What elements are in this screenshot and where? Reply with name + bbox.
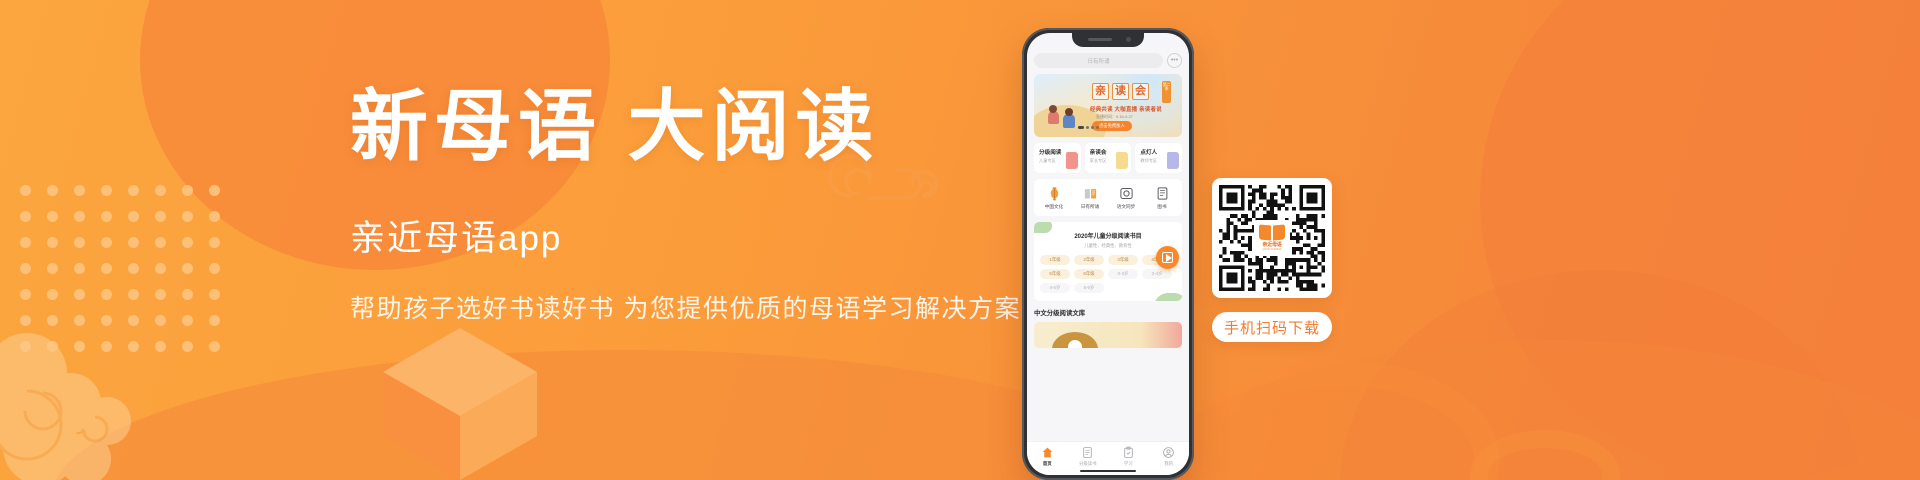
decor-dot <box>128 289 139 300</box>
app-content: 日有所诵 ••• 亲 读 会 第二季 经典共读 大咖直播 亲读者说 <box>1027 33 1189 348</box>
phone-mockup: 日有所诵 ••• 亲 读 会 第二季 经典共读 大咖直播 亲读者说 <box>1022 28 1194 480</box>
decor-dot <box>74 341 85 352</box>
decor-dot <box>47 341 58 352</box>
decor-dot <box>20 237 31 248</box>
grade-tag[interactable]: 3年级 <box>1108 255 1138 265</box>
entry-card-art-icon <box>1066 152 1078 169</box>
promo-banner: 新母语 大阅读 亲近母语app 帮助孩子选好书读好书 为您提供优质的母语学习解决… <box>0 0 1920 480</box>
decor-dot <box>128 211 139 222</box>
decor-dot <box>128 263 139 274</box>
app-search-input[interactable]: 日有所诵 <box>1034 53 1163 68</box>
book-module-title: 2020年儿童分级阅读书目 <box>1040 231 1176 240</box>
play-frame <box>1162 252 1173 263</box>
decor-circle-right <box>1480 0 1920 480</box>
decor-dot <box>74 211 85 222</box>
tab-list[interactable]: 分级读书 <box>1068 446 1109 467</box>
decor-dot <box>47 211 58 222</box>
decor-dot <box>101 185 112 196</box>
decor-dot <box>101 315 112 326</box>
decor-dot <box>209 341 220 352</box>
pager-dot <box>1078 126 1084 129</box>
decor-dot <box>155 211 166 222</box>
decor-dot <box>101 263 112 274</box>
decor-dot <box>74 237 85 248</box>
banner-copy: 新母语 大阅读 亲近母语app 帮助孩子选好书读好书 为您提供优质的母语学习解决… <box>350 88 1050 325</box>
decor-dot <box>101 237 112 248</box>
app-search-row: 日有所诵 ••• <box>1034 53 1182 68</box>
decor-dot <box>128 341 139 352</box>
brand-logo-en: QINJIN CHINESE <box>1262 248 1281 251</box>
quick-icon-label: 中国文化 <box>1041 204 1067 210</box>
entry-card[interactable]: 点灯人教师专区 <box>1135 143 1182 173</box>
tab-label: 我的 <box>1149 461 1190 467</box>
grade-tag[interactable]: 5年级 <box>1040 269 1070 279</box>
quick-icon-label: 日有所诵 <box>1077 204 1103 210</box>
age-tag[interactable]: 0-3岁 <box>1108 269 1138 279</box>
decor-dot <box>74 315 85 326</box>
leaf-decor-icon <box>1154 293 1182 301</box>
pager-dot <box>1096 126 1099 129</box>
book-open-icon <box>1083 186 1098 201</box>
decor-dot <box>101 341 112 352</box>
play-video-icon[interactable] <box>1156 246 1179 269</box>
tab-label: 首页 <box>1027 461 1068 467</box>
quick-icon-item[interactable]: 语文同步 <box>1113 186 1139 210</box>
tab-person[interactable]: 我的 <box>1149 446 1190 467</box>
speaker-icon <box>1088 38 1112 41</box>
list-icon <box>1081 446 1094 459</box>
grade-tag[interactable]: 1年级 <box>1040 255 1070 265</box>
brand-logo-name: 亲近母语 <box>1262 241 1281 248</box>
decor-dot <box>209 289 220 300</box>
app-library-strip[interactable] <box>1034 322 1182 348</box>
decor-ring-right-small <box>1470 430 1620 480</box>
tab-label: 分级读书 <box>1068 461 1109 467</box>
book-page-right <box>1273 224 1285 240</box>
age-tag[interactable]: 4-5岁 <box>1040 283 1070 293</box>
decor-dot <box>209 315 220 326</box>
decor-dot <box>209 237 220 248</box>
hero-season-tag: 第二季 <box>1162 81 1171 103</box>
decor-dot <box>74 263 85 274</box>
decor-dot <box>128 237 139 248</box>
decor-dot <box>209 185 220 196</box>
more-dots-icon[interactable]: ••• <box>1167 53 1182 68</box>
entry-card-art-icon <box>1116 152 1128 169</box>
grade-tag[interactable]: 2年级 <box>1074 255 1104 265</box>
decor-dot <box>74 185 85 196</box>
hero-schedule: 直播时间：9.16-9.27 <box>1096 114 1133 120</box>
app-quick-icons: 中国文化日有所诵语文同步图书 <box>1034 179 1182 216</box>
decor-dot <box>155 263 166 274</box>
quick-icon-label: 语文同步 <box>1113 204 1139 210</box>
decor-dot <box>20 341 31 352</box>
app-entry-cards: 分级阅读儿童专区亲读会家长专区点灯人教师专区 <box>1034 143 1182 173</box>
quick-icon-item[interactable]: 日有所诵 <box>1077 186 1103 210</box>
banner-description: 帮助孩子选好书读好书 为您提供优质的母语学习解决方案 <box>350 289 1050 325</box>
decor-dot <box>182 263 193 274</box>
decor-dot <box>47 263 58 274</box>
decor-dot <box>182 289 193 300</box>
decor-dot <box>47 289 58 300</box>
hero-child-a <box>1048 111 1059 124</box>
pager-dot <box>1086 126 1089 129</box>
decor-ring-right <box>1180 360 1500 480</box>
clipboard-icon <box>1122 446 1135 459</box>
decor-dot <box>47 237 58 248</box>
book-page-left <box>1259 224 1271 240</box>
app-book-module: 2020年儿童分级阅读书目 儿童性、经典性、教育性 1年级2年级3年级4年级5年… <box>1034 222 1182 301</box>
front-camera-icon <box>1126 37 1131 42</box>
home-indicator <box>1080 470 1136 473</box>
decor-dot <box>182 185 193 196</box>
decor-circle-bottom-right <box>1340 270 1860 480</box>
qr-download-block: 亲近母语 QINJIN CHINESE 手机扫码下载 <box>1212 178 1332 342</box>
grade-tag[interactable]: 6年级 <box>1074 269 1104 279</box>
decor-dot <box>20 185 31 196</box>
decor-cloud-icon <box>0 325 190 480</box>
download-button[interactable]: 手机扫码下载 <box>1212 312 1332 342</box>
age-tag[interactable]: 5-6岁 <box>1074 283 1104 293</box>
quick-icon-item[interactable]: 中国文化 <box>1041 186 1067 210</box>
decor-dot <box>155 341 166 352</box>
decor-dot <box>101 211 112 222</box>
hero-title-char: 亲 <box>1092 83 1109 100</box>
decor-dot <box>20 315 31 326</box>
quick-icon-item[interactable]: 图书 <box>1149 186 1175 210</box>
strip-art-sun <box>1068 340 1082 348</box>
quick-icon-label: 图书 <box>1149 204 1175 210</box>
decor-dot <box>20 289 31 300</box>
tab-label: 学习 <box>1108 461 1149 467</box>
tab-home[interactable]: 首页 <box>1027 446 1068 467</box>
entry-card[interactable]: 分级阅读儿童专区 <box>1034 143 1081 173</box>
decor-dot <box>74 289 85 300</box>
camera-icon <box>1119 186 1134 201</box>
entry-card[interactable]: 亲读会家长专区 <box>1085 143 1132 173</box>
hero-subtitle: 经典共读 大咖直播 亲读者说 <box>1090 105 1162 113</box>
book-logo-icon <box>1259 225 1285 240</box>
phone-notch <box>1072 33 1144 47</box>
decor-dot <box>155 237 166 248</box>
decor-dot <box>182 341 193 352</box>
brand-logo: 亲近母语 QINJIN CHINESE <box>1254 220 1290 256</box>
decor-dot <box>101 289 112 300</box>
hero-title-char: 会 <box>1132 83 1149 100</box>
decor-dot <box>182 237 193 248</box>
book-icon <box>1155 186 1170 201</box>
decor-hill-right <box>1100 340 1920 480</box>
decor-cube-icon <box>375 320 545 480</box>
banner-subheadline: 亲近母语app <box>350 210 1050 261</box>
decor-dot <box>155 289 166 300</box>
age-tag[interactable]: 3-4岁 <box>1142 269 1172 279</box>
entry-card-art-icon <box>1167 152 1179 169</box>
phone-screen: 日有所诵 ••• 亲 读 会 第二季 经典共读 大咖直播 亲读者说 <box>1027 33 1189 475</box>
hero-pager[interactable] <box>1078 126 1099 129</box>
banner-headline: 新母语 大阅读 <box>350 88 1050 166</box>
decor-dot <box>209 263 220 274</box>
home-icon <box>1041 446 1054 459</box>
tab-clipboard[interactable]: 学习 <box>1108 446 1149 467</box>
book-module-subtitle: 儿童性、经典性、教育性 <box>1040 243 1176 249</box>
lantern-icon <box>1047 186 1062 201</box>
hero-child-b <box>1063 114 1075 128</box>
pager-dot <box>1091 126 1094 129</box>
decor-dot <box>155 185 166 196</box>
hero-title-char: 读 <box>1112 83 1129 100</box>
decor-dot-grid <box>20 185 240 375</box>
app-section-heading: 中文分级阅读文库 <box>1034 308 1182 317</box>
decor-dot <box>128 315 139 326</box>
decor-dot <box>20 211 31 222</box>
decor-dot <box>20 263 31 274</box>
decor-dot <box>182 211 193 222</box>
app-hero-banner[interactable]: 亲 读 会 第二季 经典共读 大咖直播 亲读者说 直播时间：9.16-9.27 … <box>1034 74 1182 137</box>
hero-title: 亲 读 会 <box>1092 83 1149 100</box>
decor-dot <box>47 185 58 196</box>
decor-dot <box>182 315 193 326</box>
person-icon <box>1162 446 1175 459</box>
leaf-decor-icon <box>1034 222 1052 233</box>
decor-dot <box>209 211 220 222</box>
decor-dot <box>128 185 139 196</box>
decor-dot <box>47 315 58 326</box>
decor-dot <box>155 315 166 326</box>
qr-code-card[interactable]: 亲近母语 QINJIN CHINESE <box>1212 178 1332 298</box>
